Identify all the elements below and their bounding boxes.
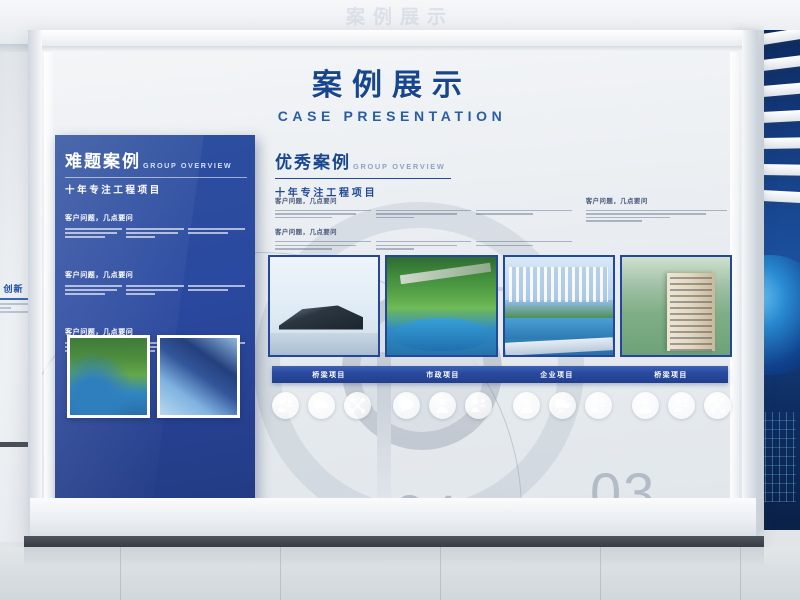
left-panel-subheading: 十年专注工程项目	[65, 182, 247, 196]
case-photo-strip	[268, 255, 732, 357]
floor-reflection	[24, 547, 764, 567]
text-line	[0, 307, 11, 309]
aerial-park-photo[interactable]	[67, 335, 150, 418]
icon-group-3	[513, 392, 612, 419]
category-label-enterprise[interactable]: 企业项目	[500, 370, 614, 380]
exhibition-display-scene: 案例展示 环保 创新 01 04 03	[0, 0, 800, 600]
right-heading-en: GROUP OVERVIEW	[353, 162, 446, 173]
left-panel-header: 难题案例GROUP OVERVIEW 十年专注工程项目	[65, 147, 247, 196]
title-en: CASE PRESENTATION	[42, 108, 742, 124]
block-title: 客户问题，几点要问	[65, 213, 245, 223]
block-title: 客户问题，几点要问	[586, 196, 727, 205]
divider	[65, 177, 247, 178]
divider	[0, 298, 30, 300]
right-text-zone: 客户问题，几点要问 客户问题，几点要问 客户问题，几点要问	[275, 196, 727, 252]
people-network-icon[interactable]	[465, 392, 492, 419]
frame-right-edge	[742, 30, 758, 542]
category-label-bridge-2[interactable]: 桥梁项目	[614, 370, 728, 380]
page-title: 案例展示 CASE PRESENTATION	[42, 60, 742, 124]
right-heading-cn: 优秀案例	[275, 148, 351, 173]
chat-bubble-icon[interactable]	[393, 392, 420, 419]
right-text-block: 客户问题，几点要问	[275, 196, 572, 220]
block-title: 客户问题，几点要问	[65, 270, 245, 280]
office-tower-aerial-photo[interactable]	[620, 255, 732, 357]
icon-group-1	[272, 392, 371, 419]
floor	[0, 547, 800, 600]
user-person-icon[interactable]	[513, 392, 540, 419]
monitor-share-icon[interactable]	[308, 392, 335, 419]
category-label-bar: 桥梁项目 市政项目 企业项目 桥梁项目	[272, 366, 728, 383]
category-label-bridge-1[interactable]: 桥梁项目	[272, 370, 386, 380]
left-blue-panel: 难题案例GROUP OVERVIEW 十年专注工程项目 客户问题，几点要问 客户…	[55, 135, 255, 530]
user-person-icon[interactable]	[632, 392, 659, 419]
left-panel-text-block: 客户问题，几点要问	[65, 270, 245, 297]
block-title: 客户问题，几点要问	[275, 227, 572, 236]
glass-towers-photo[interactable]	[157, 335, 240, 418]
frame-lip	[40, 46, 746, 52]
forest-lake-aerial-photo[interactable]	[385, 255, 497, 357]
people-network-icon[interactable]	[272, 392, 299, 419]
nodes-link-icon[interactable]	[344, 392, 371, 419]
right-text-block: 客户问题，几点要问	[586, 196, 727, 224]
baseboard-strip	[24, 536, 764, 547]
nodes-link-icon[interactable]	[704, 392, 731, 419]
display-base-shelf	[30, 498, 756, 536]
right-section-header: 优秀案例GROUP OVERVIEW 十年专注工程项目	[275, 148, 715, 199]
watermark-number-03: 03	[590, 460, 656, 498]
people-network-icon[interactable]	[668, 392, 695, 419]
user-person-icon[interactable]	[429, 392, 456, 419]
left-panel-heading-en: GROUP OVERVIEW	[143, 161, 232, 172]
left-panel-photo-row	[67, 335, 240, 418]
ceiling-reflection-text: 案例展示	[0, 2, 800, 29]
block-title: 客户问题，几点要问	[275, 196, 572, 205]
modern-pavilion-photo[interactable]	[268, 255, 380, 357]
category-label-municipal[interactable]: 市政项目	[386, 370, 500, 380]
monitor-share-icon[interactable]	[549, 392, 576, 419]
icon-group-2	[393, 392, 492, 419]
frame-left-edge	[28, 30, 42, 542]
city-skyline-river-photo[interactable]	[503, 255, 615, 357]
left-panel-heading-cn: 难题案例	[65, 147, 141, 172]
right-text-block: 客户问题，几点要问	[275, 227, 572, 251]
icon-group-4	[632, 392, 731, 419]
left-panel-text-block: 客户问题，几点要问	[65, 213, 245, 240]
watermark-number-04: 04	[394, 482, 460, 498]
people-network-icon[interactable]	[585, 392, 612, 419]
divider	[275, 178, 451, 179]
title-cn: 案例展示	[42, 60, 742, 104]
